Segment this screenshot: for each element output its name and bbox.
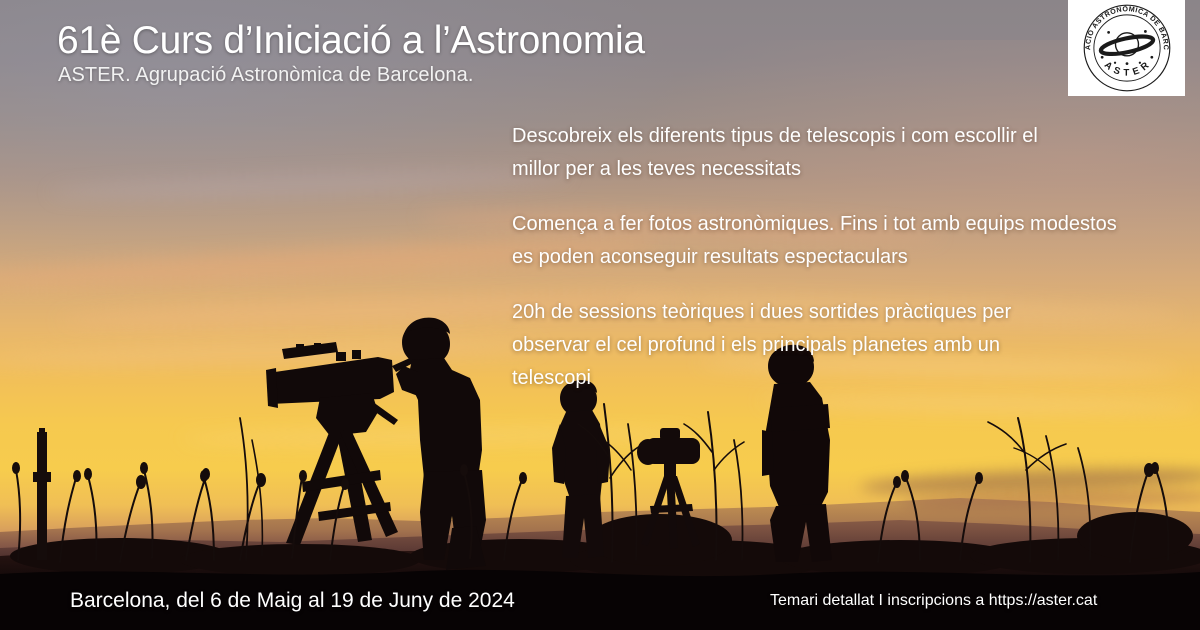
poster-root: 61è Curs d’Iniciació a l’Astronomia ASTE… [0,0,1200,630]
aster-logo-icon: AGRUPACIÓ ASTRONÒMICA DE BARCELONA A S T… [1079,2,1175,94]
bullet-line: observar el cel profund i els principals… [512,329,1200,362]
registration-link[interactable]: Temari detallat I inscripcions a https:/… [770,592,1097,610]
aster-logo[interactable]: AGRUPACIÓ ASTRONÒMICA DE BARCELONA A S T… [1068,0,1185,96]
telescope-silhouette [266,342,415,545]
list-item: Descobreix els diferents tipus de telesc… [512,120,1200,186]
page-title: 61è Curs d’Iniciació a l’Astronomia [57,19,645,63]
list-item: Comença a fer fotos astronòmiques. Fins … [512,208,1200,274]
bullet-line: es poden aconseguir resultats espectacul… [512,241,1200,274]
bullet-line: telescopi [512,362,1200,395]
event-dates: Barcelona, del 6 de Maig al 19 de Juny d… [70,589,515,613]
bullet-line: 20h de sessions teòriques i dues sortide… [512,296,1200,329]
list-item: 20h de sessions teòriques i dues sortide… [512,296,1200,395]
description-list: Descobreix els diferents tipus de telesc… [512,120,1200,417]
bullet-line: Descobreix els diferents tipus de telesc… [512,120,1200,153]
bullet-line: millor per a les teves necessitats [512,153,1200,186]
organization-subtitle: ASTER. Agrupació Astronòmica de Barcelon… [58,64,474,87]
saturn-icon [1099,33,1154,58]
logo-ring-text-top: AGRUPACIÓ ASTRONÒMICA DE BARCELONA [1079,2,1170,50]
bullet-line: Comença a fer fotos astronòmiques. Fins … [512,208,1200,241]
